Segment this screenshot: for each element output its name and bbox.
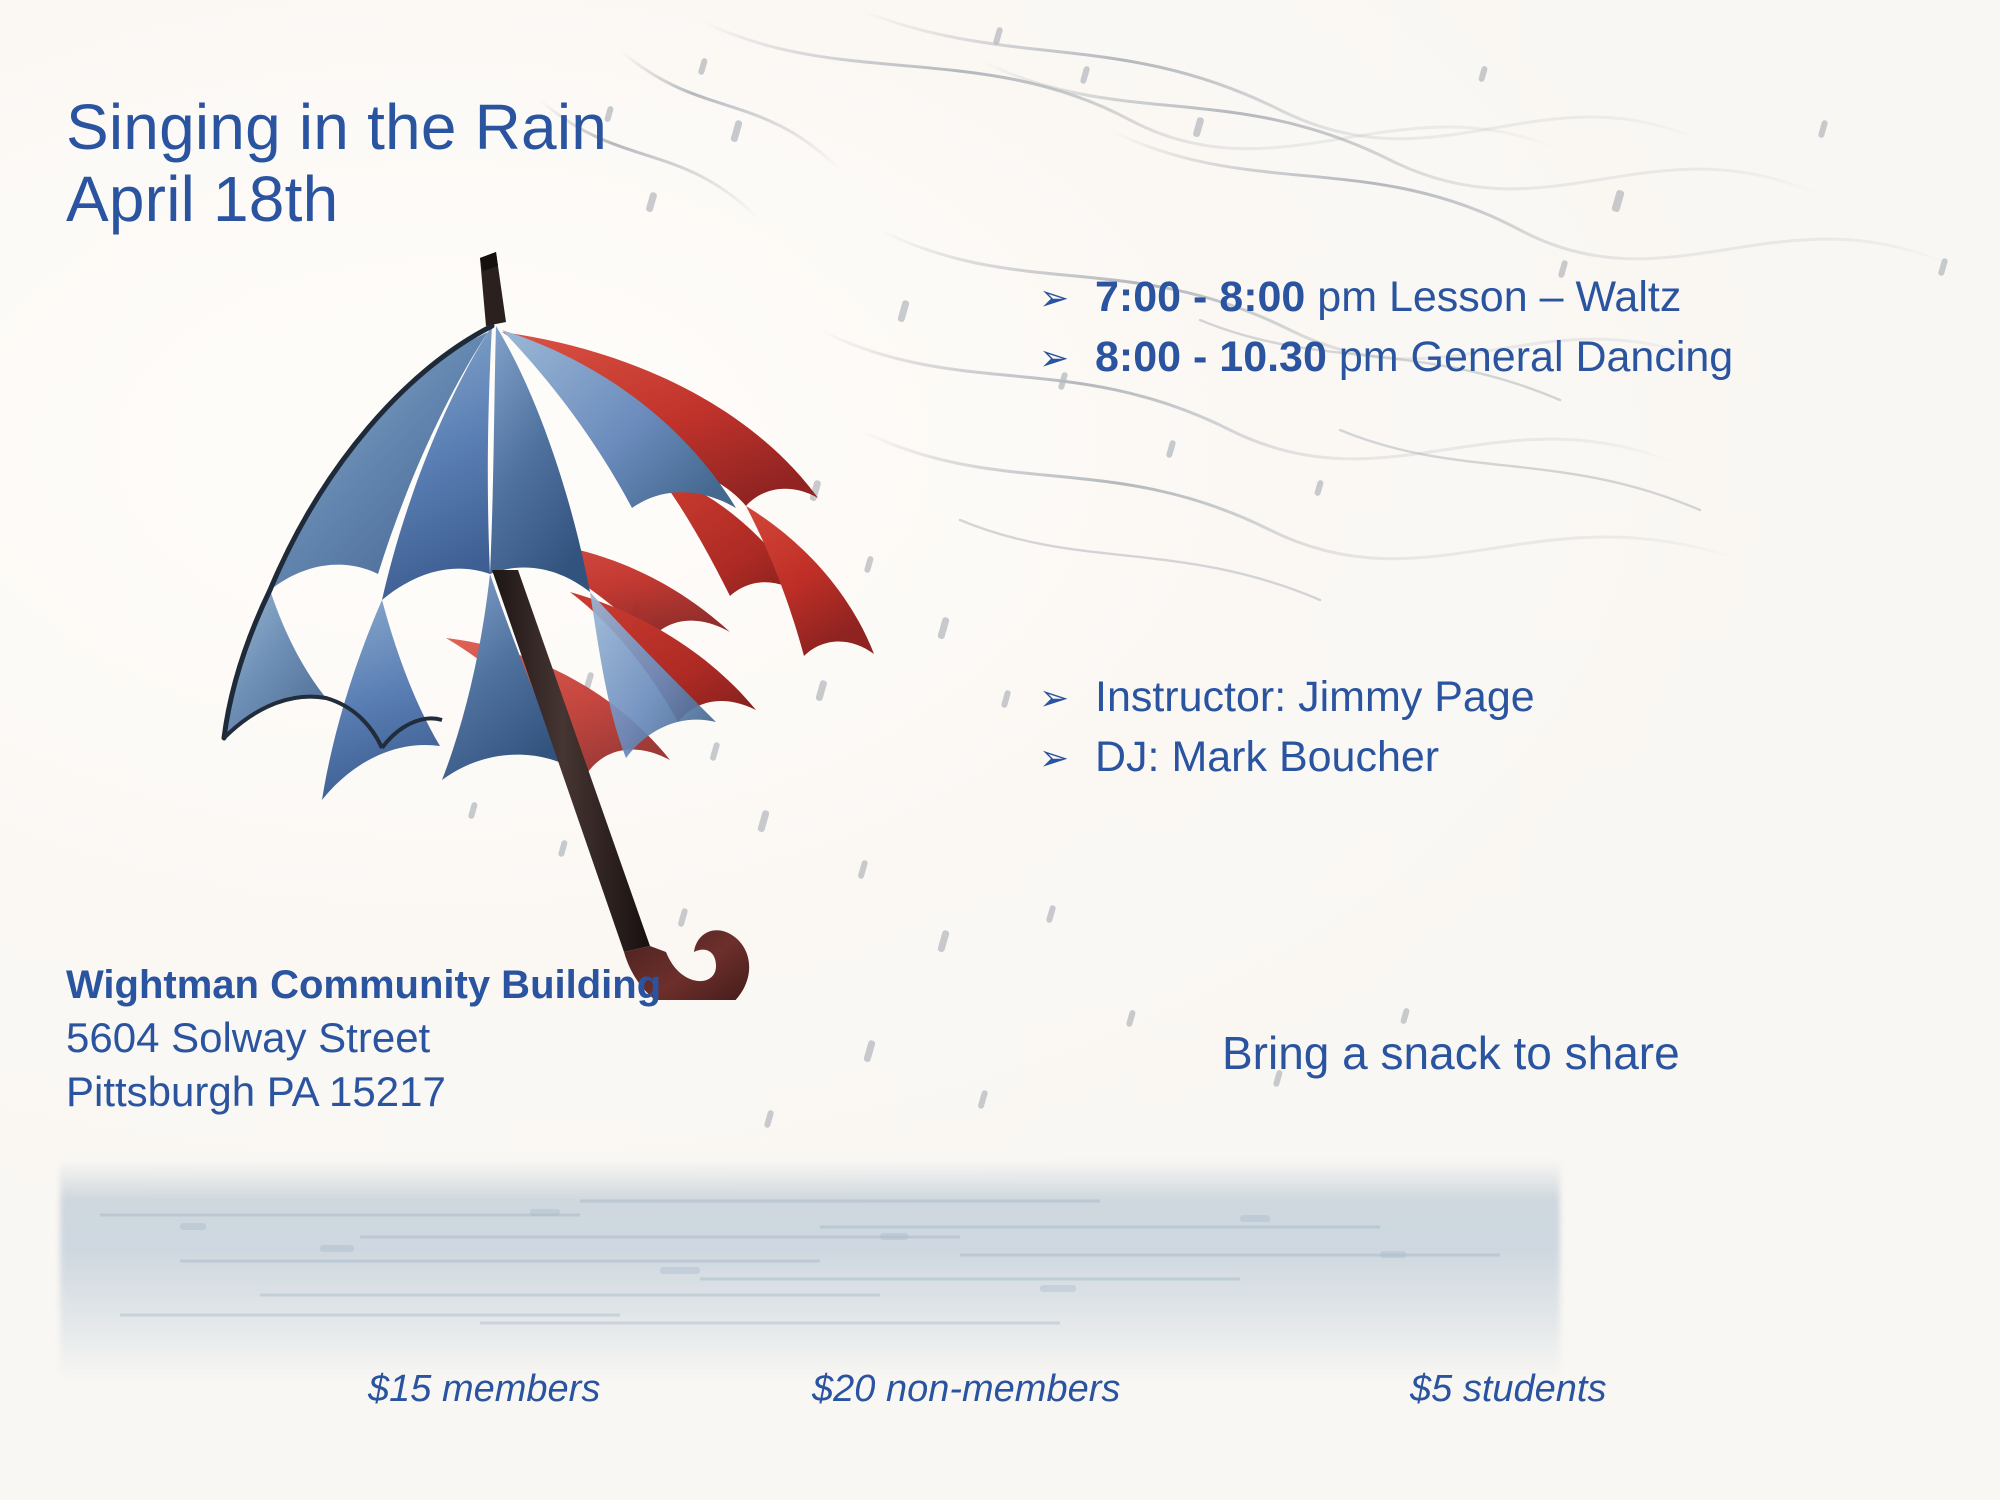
price-students: $5 students [1410, 1368, 1606, 1411]
venue-address: Wightman Community Building 5604 Solway … [66, 960, 661, 1119]
venue-street: 5604 Solway Street [66, 1011, 661, 1065]
snack-note: Bring a snack to share [1222, 1026, 1680, 1080]
list-item: ➢ Instructor: Jimmy Page [1095, 672, 1855, 724]
title-line-2: April 18th [66, 164, 607, 236]
list-item: ➢ 7:00 - 8:00 pm Lesson – Waltz [1095, 272, 1855, 324]
schedule-time: 8:00 - 10.30 [1095, 333, 1327, 381]
arrow-bullet-icon: ➢ [1039, 732, 1095, 784]
schedule-item-text: 8:00 - 10.30 pm General Dancing [1095, 332, 1855, 384]
schedule-detail: pm Lesson – Waltz [1305, 273, 1681, 321]
venue-name: Wightman Community Building [66, 960, 661, 1011]
staff-list: ➢ Instructor: Jimmy Page ➢ DJ: Mark Bouc… [1095, 672, 1855, 792]
price-non-members: $20 non-members [812, 1368, 1120, 1411]
instructor-text: Instructor: Jimmy Page [1095, 672, 1855, 724]
price-members: $15 members [368, 1368, 600, 1411]
dj-text: DJ: Mark Boucher [1095, 732, 1855, 784]
arrow-bullet-icon: ➢ [1039, 672, 1095, 724]
arrow-bullet-icon: ➢ [1039, 332, 1095, 384]
list-item: ➢ 8:00 - 10.30 pm General Dancing [1095, 332, 1855, 384]
schedule-list: ➢ 7:00 - 8:00 pm Lesson – Waltz ➢ 8:00 -… [1095, 272, 1855, 392]
schedule-detail: pm General Dancing [1327, 333, 1733, 381]
page-title: Singing in the Rain April 18th [66, 92, 607, 235]
list-item: ➢ DJ: Mark Boucher [1095, 732, 1855, 784]
schedule-time: 7:00 - 8:00 [1095, 273, 1305, 321]
title-line-1: Singing in the Rain [66, 92, 607, 164]
venue-city-state-zip: Pittsburgh PA 15217 [66, 1065, 661, 1119]
schedule-item-text: 7:00 - 8:00 pm Lesson – Waltz [1095, 272, 1855, 324]
arrow-bullet-icon: ➢ [1039, 272, 1095, 324]
flyer-slide: Singing in the Rain April 18th ➢ 7:00 - … [0, 0, 2000, 1500]
